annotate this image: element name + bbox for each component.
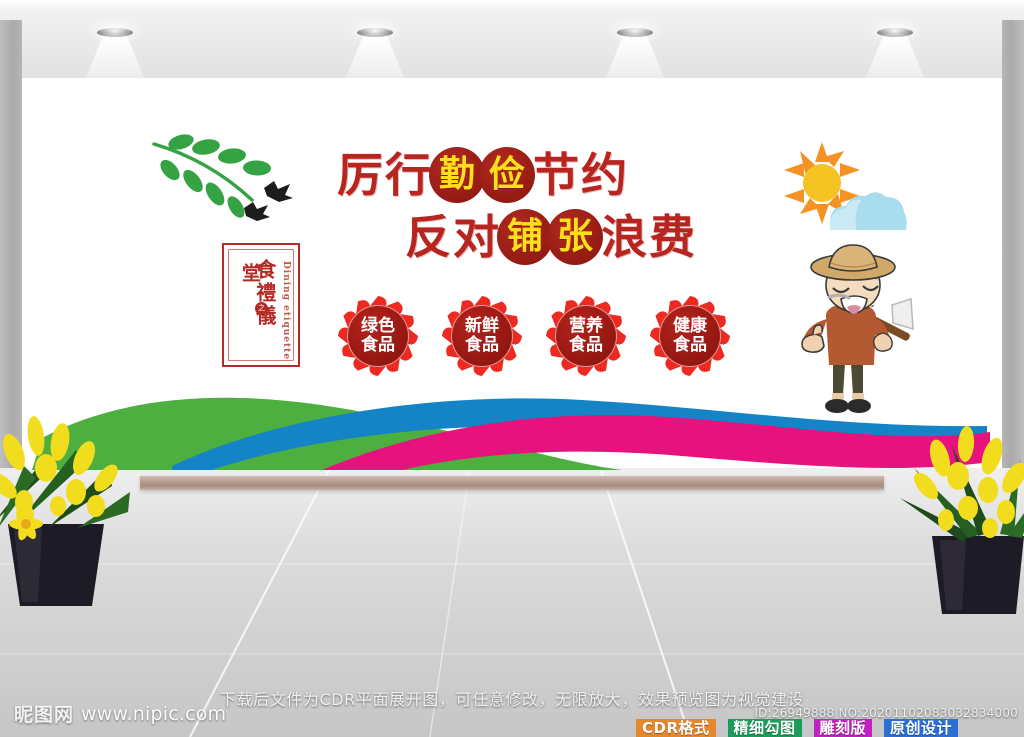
left-side-wall [0,20,22,470]
leaf-branch-and-birds [148,128,298,224]
asset-tag-2: 精细勾图 [728,719,802,737]
slogan1-char-3: 勤 [429,147,485,203]
ceiling-spotlight-1 [97,28,133,37]
slogan-line-1: 厉行勤俭节约 [336,146,756,208]
slogan2-char-6: 费 [649,208,695,266]
slogan2-char-5: 浪 [601,208,647,266]
asset-tag-1: CDR格式 [636,719,716,737]
wall-skirting-board [140,476,884,490]
asset-tag-3: 雕刻版 [814,719,873,737]
ceiling-spotlight-2 [357,28,393,37]
slogan-line-2: 反对铺张浪费 [336,208,756,270]
right-side-wall [1002,20,1024,470]
badge-inner-circle: 健康食品 [659,305,721,367]
slogan2-char-1: 反 [405,208,451,266]
farmer-body [802,305,892,365]
badge-label: 营养食品 [569,317,603,355]
slogan2-char-4: 张 [547,209,603,265]
badge-fresh-food: 新鲜食品 [442,296,522,376]
seal-english-text: Dining etiquette [281,261,291,360]
badge-healthy-food: 健康食品 [650,296,730,376]
seal-sub-char: 堂 [237,263,264,285]
decorative-wave-ribbons [22,370,1002,470]
badge-nutritious-food: 营养食品 [546,296,626,376]
food-quality-badge-row: 绿色食品新鲜食品营养食品健康食品 [338,296,738,376]
seal-center-char: 之 [255,302,268,315]
farmer-head [811,245,895,314]
light-glow [607,16,663,46]
flower-vase-right [896,424,1024,614]
badge-green-food: 绿色食品 [338,296,418,376]
room-scene: 食禮儀 堂 之 Dining etiquette 厉行勤俭节约 反对铺张浪费 绿… [0,0,1024,737]
light-glow [867,16,923,46]
badge-inner-circle: 营养食品 [555,305,617,367]
ceiling-lip [0,0,1024,12]
slogan1-char-2: 行 [385,146,431,204]
badge-inner-circle: 绿色食品 [347,305,409,367]
slogan1-char-4: 俭 [479,147,535,203]
badge-label: 绿色食品 [361,317,395,355]
light-glow [87,16,143,46]
badge-label: 健康食品 [673,317,707,355]
light-glow [347,16,403,46]
main-slogan: 厉行勤俭节约 反对铺张浪费 [336,146,756,270]
slogan1-char-6: 约 [581,146,627,204]
asset-tag-4: 原创设计 [884,719,958,737]
badge-label: 新鲜食品 [465,317,499,355]
asset-id-text: ID:26949888 NO:20201102083032834000 [754,706,1018,720]
slogan2-char-3: 铺 [497,209,553,265]
sun-and-cloud [778,140,908,235]
culture-wall-board: 食禮儀 堂 之 Dining etiquette 厉行勤俭节约 反对铺张浪费 绿… [22,78,1002,468]
asset-tag-row: CDR格式精细勾图雕刻版原创设计 [636,719,958,737]
seal-corner-tr [287,243,300,256]
slogan2-char-2: 对 [453,208,499,266]
flower-vase-left [0,406,140,606]
dining-etiquette-seal: 食禮儀 堂 之 Dining etiquette [222,243,300,367]
slogan1-char-5: 节 [533,146,579,204]
vase-right-icon [932,536,1024,614]
badge-inner-circle: 新鲜食品 [451,305,513,367]
seal-corner-bl [222,354,235,367]
ceiling-spotlight-3 [617,28,653,37]
ceiling-spotlight-4 [877,28,913,37]
seal-corner-tl [222,243,235,256]
slogan1-char-1: 厉 [337,146,383,204]
